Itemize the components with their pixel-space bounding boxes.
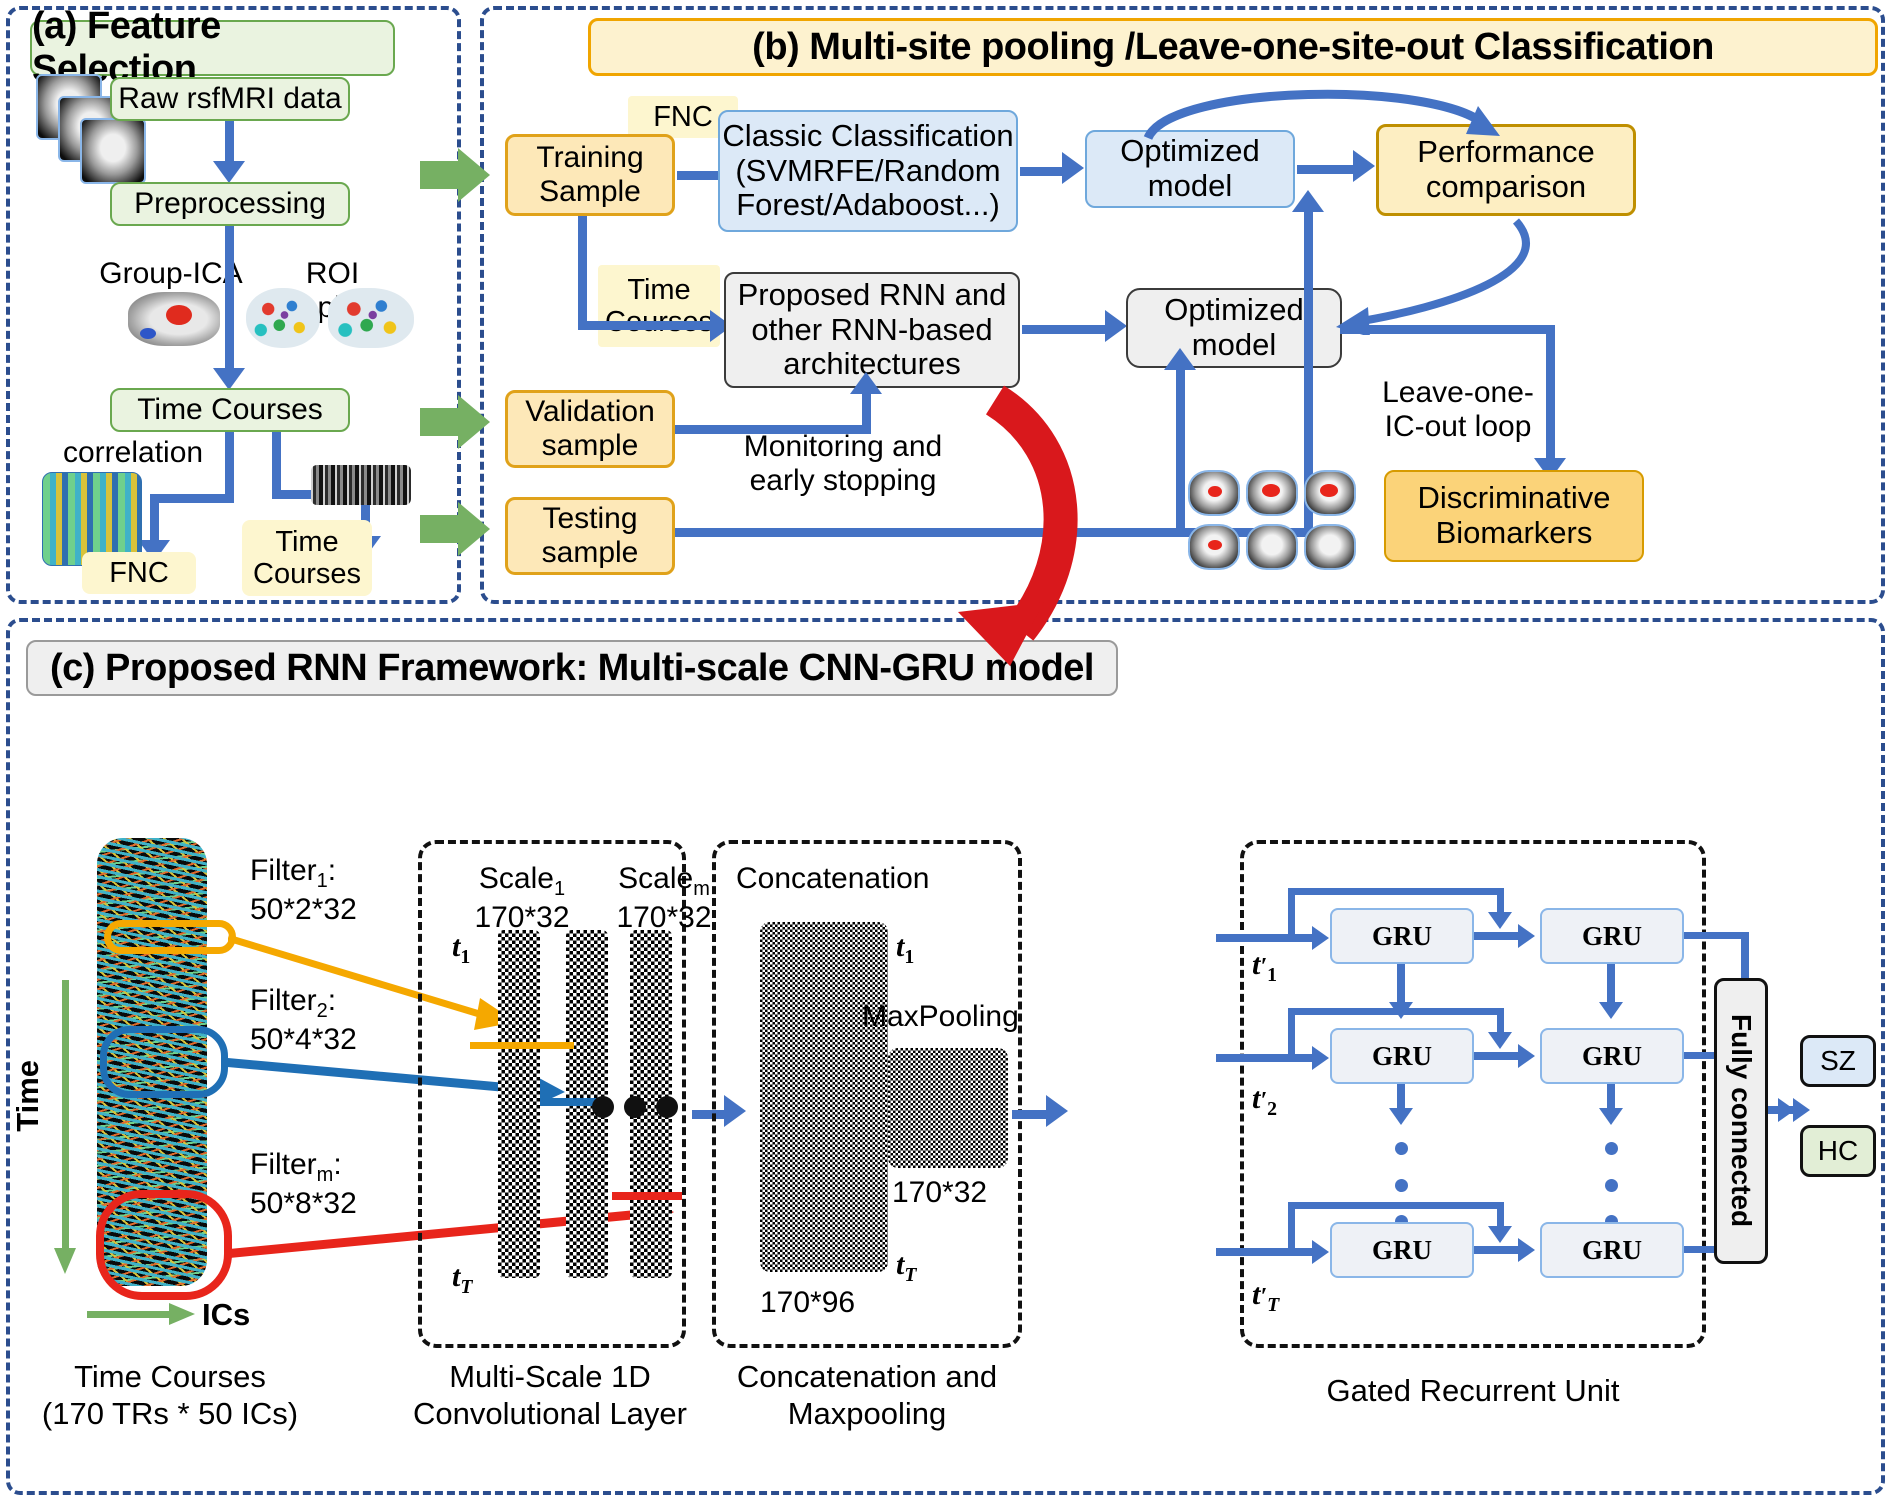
gru-r1-connect-arrowhead: [1518, 924, 1535, 948]
arrowhead-testing-to-optimized-top: [1292, 190, 1324, 212]
montage-activation-4: [1208, 540, 1222, 550]
ics-axis-arrow: [87, 1305, 197, 1325]
label-concat-t1: t1: [896, 930, 914, 969]
gru-skip-rT-top: [1288, 1202, 1504, 1209]
gru-input-line-1: [1216, 934, 1316, 942]
caption-tc-line1: Time Courses: [20, 1358, 320, 1395]
classic-line1: Classic Classification: [722, 119, 1013, 154]
green-chevron-training: [420, 148, 490, 202]
output-sz[interactable]: SZ: [1800, 1035, 1876, 1087]
gru-vlink-c1-r1r2: [1397, 964, 1405, 1006]
caption-conv-line1: Multi-Scale 1D: [400, 1358, 700, 1395]
gru-skip-r1-left: [1288, 888, 1295, 936]
arrowhead-rnn-to-optimized-bottom: [1105, 310, 1127, 342]
group-ica-activation-blob: [166, 305, 192, 325]
label-correlation: correlation: [63, 436, 203, 470]
arrow-rnn-to-optimized-bottom: [1022, 325, 1110, 334]
label-scale-1: Scale1 170*32: [452, 862, 592, 935]
scalem-sub: m: [693, 878, 710, 900]
maxpooling-feature-map: [888, 1048, 1008, 1168]
arrow-training-to-classic: [677, 171, 723, 180]
gru-cell-r2c1[interactable]: GRU: [1330, 1028, 1474, 1084]
gru-out-r1: [1684, 932, 1748, 939]
label-filter-1: Filter1: 50*2*32: [250, 854, 357, 927]
gru-c1-dot-1: [1395, 1142, 1408, 1155]
node-classic-classification[interactable]: Classic Classification (SVMRFE/Random Fo…: [718, 110, 1018, 232]
output-hc[interactable]: HC: [1800, 1125, 1876, 1177]
gru-input-arrowhead-T: [1312, 1240, 1329, 1264]
ellipsis-dot-1: [592, 1096, 614, 1118]
gru-cell-rTc2[interactable]: GRU: [1540, 1222, 1684, 1278]
caption-time-courses: Time Courses (170 TRs * 50 ICs): [20, 1358, 320, 1432]
scale1-name: Scale: [479, 862, 554, 895]
label-time-axis: Time: [10, 1060, 45, 1132]
arrowhead-optimized-to-performance: [1353, 150, 1375, 182]
filterm-sub: m: [317, 1164, 334, 1186]
gru-r2-connect: [1474, 1052, 1522, 1060]
biomarker-brain-montage: [1188, 470, 1358, 580]
gru-c2-dot-2: [1605, 1179, 1618, 1192]
gru-c1-dot-2: [1395, 1179, 1408, 1192]
line-training-down: [578, 216, 587, 330]
scalem-name: Scale: [618, 862, 693, 895]
loop-line2: IC-out loop: [1358, 410, 1558, 444]
time-axis-arrow: [58, 980, 72, 1280]
gru-vlink-c1-r1r2-arrowhead: [1389, 1002, 1413, 1019]
arrowhead-validation-to-rnn: [850, 372, 882, 394]
testing-line2: sample: [542, 536, 639, 570]
node-training-sample[interactable]: Training Sample: [505, 134, 675, 216]
gru-r1-connect: [1474, 932, 1522, 940]
arrow-maxpool-to-gru: [1012, 1110, 1048, 1119]
red-curved-arrow-c-to-b: [940, 380, 1130, 670]
biomarkers-line1: Discriminative: [1418, 481, 1611, 516]
filterm-name: Filter: [250, 1148, 317, 1181]
tc-tag-line1: Time: [627, 274, 690, 306]
panel-a-title: (a) Feature Selection: [30, 20, 395, 76]
node-testing-sample[interactable]: Testing sample: [505, 497, 675, 575]
gru-vlink-c2-r1r2-arrowhead: [1599, 1002, 1623, 1019]
node-proposed-rnn[interactable]: Proposed RNN and other RNN-based archite…: [724, 272, 1020, 388]
roi-template-sagittal-image: [328, 288, 414, 348]
gru-rT-connect: [1474, 1246, 1522, 1254]
roi-template-axial-image: [246, 288, 320, 348]
arrowhead-classic-to-optimized-top: [1062, 152, 1084, 184]
gru-cell-r2c2[interactable]: GRU: [1540, 1028, 1684, 1084]
rnn-line1: Proposed RNN and: [738, 278, 1007, 313]
green-chevron-testing: [420, 502, 490, 556]
branch-left-horizontal: [150, 494, 234, 503]
scale1-size: 170*32: [474, 901, 569, 934]
biomarkers-line2: Biomarkers: [1436, 516, 1593, 551]
opt-bot-line1: Optimized: [1164, 293, 1304, 328]
label-t-prime-T: t′T: [1252, 1278, 1279, 1317]
gru-column1-ellipsis: [1394, 1142, 1408, 1228]
arrowhead-preprocessing-to-timecourses: [213, 368, 245, 390]
branch-left-down: [150, 494, 159, 546]
arrowhead-testing-to-optimized-bottom: [1164, 348, 1196, 370]
montage-activation-1: [1208, 486, 1222, 497]
rnn-line2: other RNN-based: [751, 313, 992, 348]
filterm-tickmark: [612, 1192, 682, 1200]
arrow-preprocessing-to-timecourses: [225, 226, 234, 374]
tc-out-line2: Courses: [253, 558, 361, 590]
arrow-optimized-to-performance: [1297, 165, 1355, 174]
fc-to-output-arrowhead: [1793, 1098, 1810, 1122]
label-concatenation: Concatenation: [736, 862, 929, 896]
node-validation-sample[interactable]: Validation sample: [505, 390, 675, 468]
loop-line1: Leave-one-: [1358, 376, 1558, 410]
caption-concat-maxpool: Concatenation and Maxpooling: [712, 1358, 1022, 1432]
label-ics-axis: ICs: [202, 1297, 250, 1332]
tc-out-line1: Time: [275, 526, 338, 558]
filter2-highlight-ellipse: [100, 1026, 228, 1098]
filter1-size: 50*2*32: [250, 893, 357, 926]
gru-column2-ellipsis: [1604, 1142, 1618, 1228]
label-concat-size: 170*96: [760, 1286, 855, 1320]
caption-conv-layer: Multi-Scale 1D Convolutional Layer: [400, 1358, 700, 1432]
caption-gru: Gated Recurrent Unit: [1240, 1372, 1706, 1409]
fully-connected-layer[interactable]: Fully connected: [1714, 978, 1768, 1264]
filter1-sub: 1: [317, 870, 328, 892]
label-maxpooling: MaxPooling: [862, 1000, 1019, 1034]
gru-input-arrowhead-1: [1312, 926, 1329, 950]
gru-cell-r1c1[interactable]: GRU: [1330, 908, 1474, 964]
feature-map-scale-1: [498, 930, 540, 1278]
arrow-classic-to-optimized-top: [1020, 167, 1064, 176]
montage-activation-3: [1320, 484, 1338, 497]
branch-left-vertical: [225, 432, 234, 498]
concatenation-feature-map: [760, 922, 888, 1272]
line-optimized-bottom-right: [1340, 325, 1555, 334]
ellipsis-dot-2: [624, 1096, 646, 1118]
label-leave-one-ic-out-loop: Leave-one- IC-out loop: [1358, 376, 1558, 444]
gru-vlink-c1-r2dots-arrowhead: [1389, 1108, 1413, 1125]
caption-tc-line2: (170 TRs * 50 ICs): [20, 1395, 320, 1432]
gru-vlink-c2-r2dots-arrowhead: [1599, 1108, 1623, 1125]
line-testing-up-to-optimized-bottom: [1176, 368, 1185, 530]
caption-conv-line2: Convolutional Layer: [400, 1395, 700, 1432]
scalem-size: 170*32: [616, 901, 711, 934]
label-t-prime-1: t′1: [1252, 948, 1277, 987]
opt-bot-line2: model: [1192, 328, 1276, 363]
gru-skip-r1-top: [1288, 888, 1504, 895]
gru-input-arrowhead-2: [1312, 1046, 1329, 1070]
caption-cm-line2: Maxpooling: [712, 1395, 1022, 1432]
filter1-name: Filter: [250, 854, 317, 887]
group-ica-activation-blob-2: [140, 328, 156, 339]
label-concat-tT: tT: [896, 1248, 916, 1287]
testing-line1: Testing: [542, 502, 637, 536]
curved-arrow-bottom-feedback: [1330, 215, 1570, 335]
gru-input-line-2: [1216, 1054, 1316, 1062]
gru-skip-rT-left: [1288, 1202, 1295, 1250]
perf-line2: comparison: [1426, 170, 1586, 205]
gru-skip-r1-arrowhead: [1488, 912, 1512, 929]
arrowhead-raw-to-preprocessing: [213, 161, 245, 183]
node-raw-rsfmri-data[interactable]: Raw rsfMRI data: [110, 77, 350, 121]
time-courses-strip-image: [311, 465, 411, 505]
node-time-courses-output[interactable]: Time Courses: [242, 520, 372, 596]
arrowhead-maxpool-to-gru: [1046, 1095, 1068, 1127]
scale1-sub: 1: [554, 878, 565, 900]
gru-skip-r2-left: [1288, 1008, 1295, 1056]
gru-skip-r2-arrowhead: [1488, 1032, 1512, 1049]
gru-cell-rTc1[interactable]: GRU: [1330, 1222, 1474, 1278]
validation-line1: Validation: [525, 395, 655, 429]
line-validation-up: [862, 392, 871, 428]
ellipsis-dots-scales: [592, 1096, 678, 1118]
montage-brain-5: [1246, 524, 1298, 570]
classic-line3: Forest/Adaboost...): [736, 188, 1000, 223]
fully-connected-label: Fully connected: [1725, 1014, 1757, 1227]
gru-input-line-T: [1216, 1248, 1316, 1256]
label-t1-scale: t1: [452, 930, 470, 969]
tag-time-courses-b: Time Courses: [598, 265, 720, 347]
node-fnc-output[interactable]: FNC: [82, 552, 196, 594]
perf-line1: Performance: [1417, 135, 1594, 170]
montage-activation-2: [1262, 484, 1280, 497]
branch-right-vertical: [272, 432, 281, 494]
opt-top-line2: model: [1148, 169, 1232, 204]
gru-skip-rT-arrowhead: [1488, 1226, 1512, 1243]
caption-cm-line1: Concatenation and: [712, 1358, 1022, 1395]
training-line2: Sample: [539, 175, 641, 209]
panel-b-title: (b) Multi-site pooling /Leave-one-site-o…: [588, 18, 1878, 76]
ellipsis-dot-3: [656, 1096, 678, 1118]
node-time-courses-a[interactable]: Time Courses: [110, 388, 350, 432]
label-tT-scale: tT: [452, 1260, 472, 1299]
curved-arrow-top-feedback: [1140, 78, 1520, 140]
line-training-to-rnn: [578, 321, 713, 330]
gru-r2-connect-arrowhead: [1518, 1044, 1535, 1068]
filterm-highlight-ellipse: [96, 1190, 232, 1300]
gru-vlink-c2-r1r2: [1607, 964, 1615, 1006]
label-maxpool-size: 170*32: [892, 1176, 987, 1210]
gru-rT-connect-arrowhead: [1518, 1238, 1535, 1262]
green-chevron-validation: [420, 395, 490, 449]
node-discriminative-biomarkers[interactable]: Discriminative Biomarkers: [1384, 470, 1644, 562]
filter1-highlight-ellipse: [104, 920, 236, 954]
node-optimized-model-top[interactable]: Optimized model: [1085, 130, 1295, 208]
classic-line2: (SVMRFE/Random: [735, 154, 1000, 189]
gru-c2-dot-1: [1605, 1142, 1618, 1155]
gru-cell-r1c2[interactable]: GRU: [1540, 908, 1684, 964]
validation-line2: sample: [542, 429, 639, 463]
training-line1: Training: [536, 141, 643, 175]
raw-mri-thumbnail-3: [80, 118, 146, 184]
filter1-tickmark: [470, 1042, 574, 1049]
label-t-prime-2: t′2: [1252, 1082, 1277, 1121]
fc-to-output-line: [1768, 1106, 1796, 1114]
montage-brain-6: [1304, 524, 1356, 570]
node-preprocessing[interactable]: Preprocessing: [110, 182, 350, 226]
